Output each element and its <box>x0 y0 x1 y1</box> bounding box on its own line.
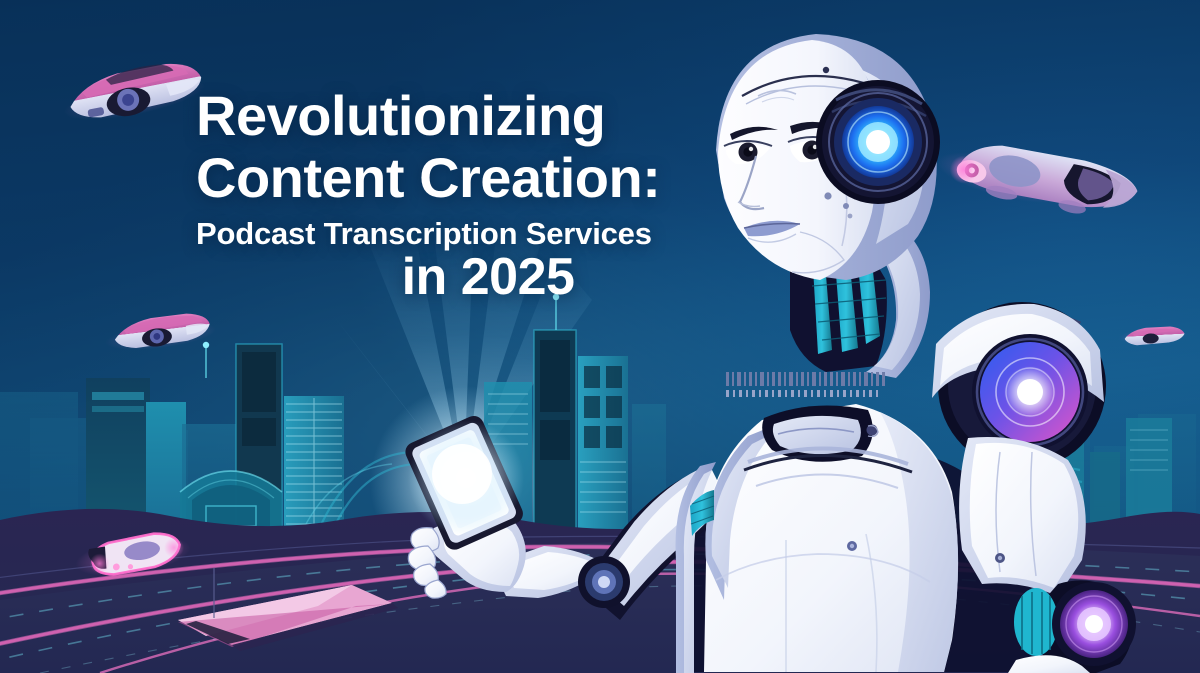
robot-ear-lens <box>816 80 940 204</box>
chest-data-strip <box>726 372 885 397</box>
robot-head <box>716 34 940 280</box>
humanoid-robot <box>0 0 1200 673</box>
poster-canvas: Revolutionizing Content Creation: Podcas… <box>0 0 1200 673</box>
robot-torso <box>704 372 958 672</box>
